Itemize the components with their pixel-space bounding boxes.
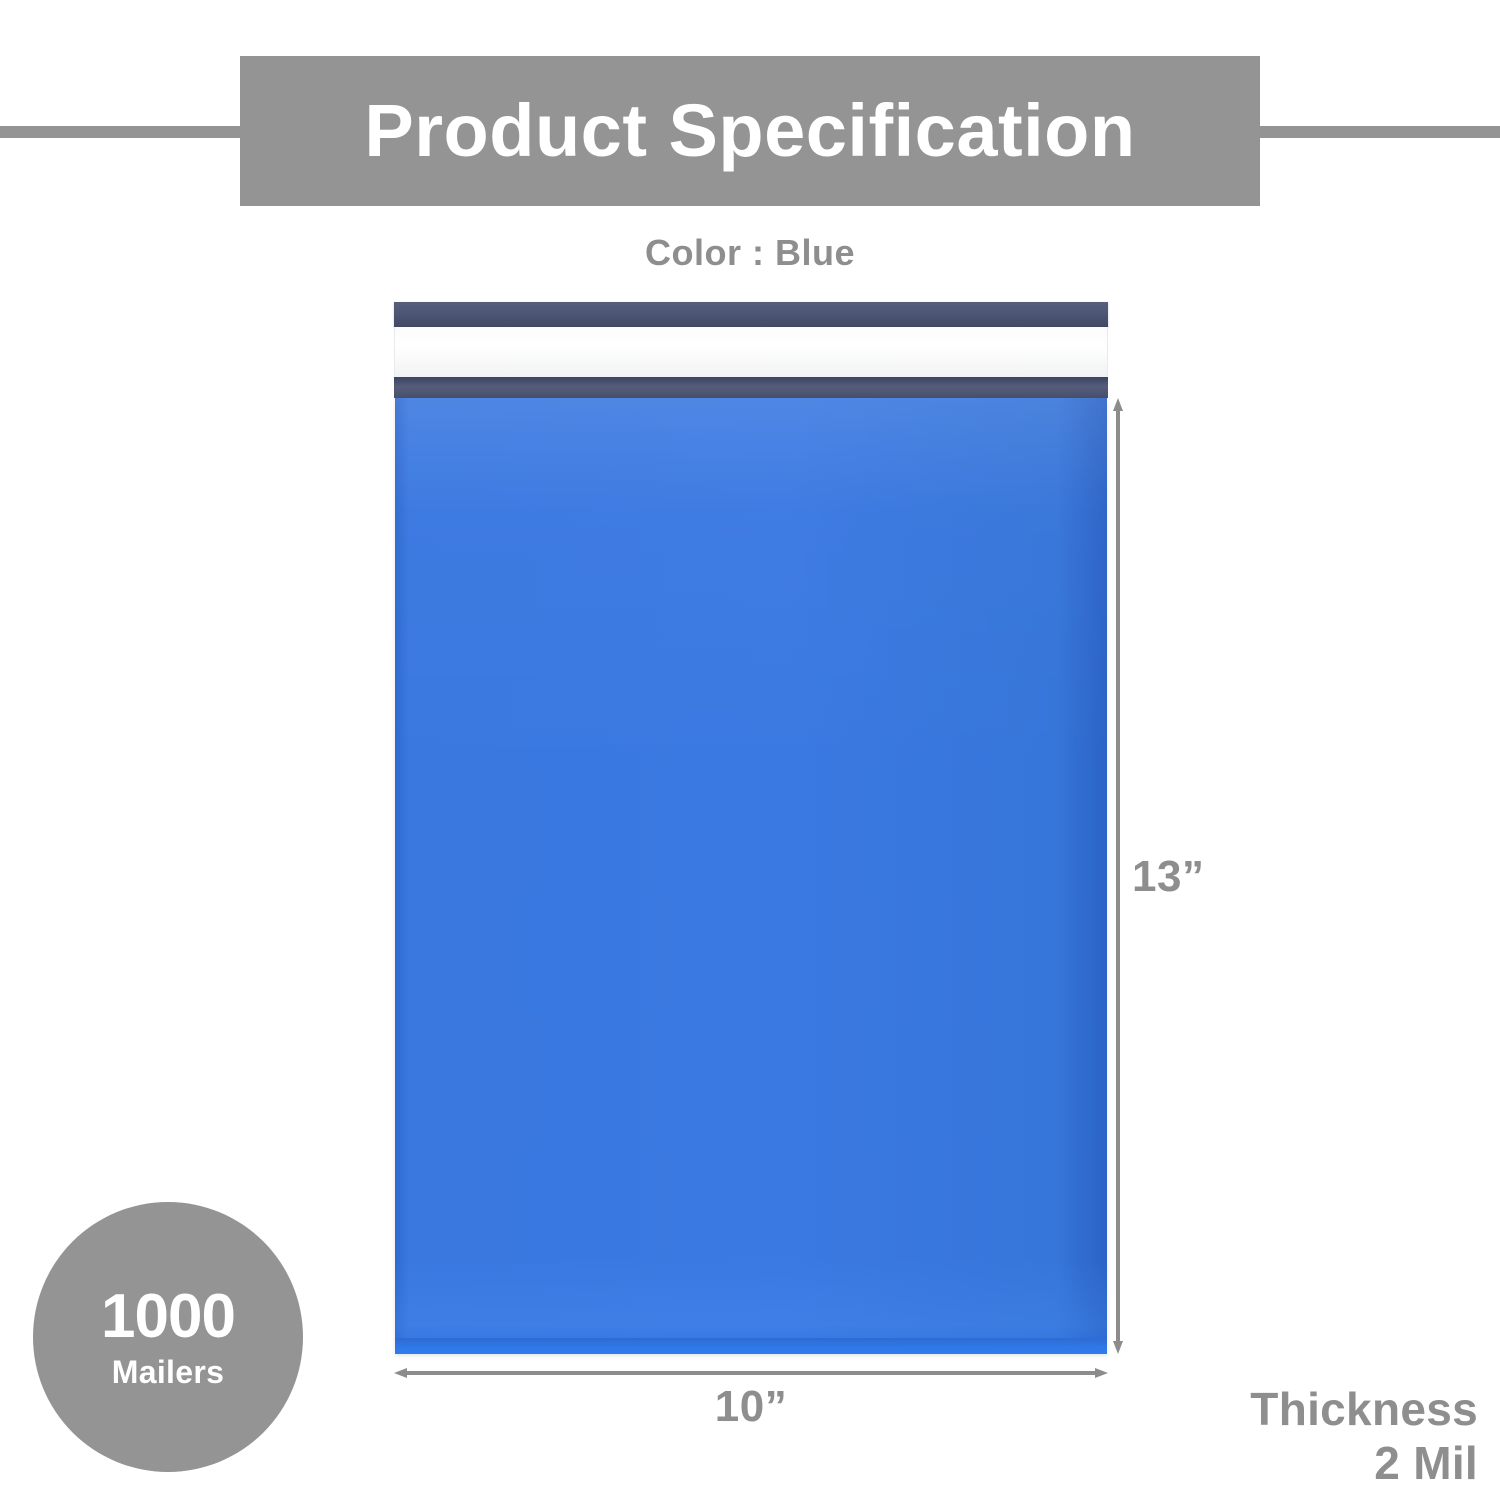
header-banner: Product Specification xyxy=(240,56,1260,206)
page-title: Product Specification xyxy=(364,94,1135,168)
bag-body xyxy=(395,398,1107,1354)
height-dimension-arrow xyxy=(1113,398,1123,1354)
bag-adhesive-liner-strip xyxy=(394,327,1108,377)
width-dimension-label: 10” xyxy=(394,1382,1108,1432)
width-dimension-arrow xyxy=(394,1368,1108,1378)
product-specification-page: Product Specification Color : Blue 13” 1… xyxy=(0,0,1500,1500)
quantity-count: 1000 xyxy=(101,1286,235,1348)
bag-bottom-seal-band xyxy=(395,1338,1107,1354)
bag-flap-seam-strip xyxy=(394,377,1108,398)
dimension-shaft xyxy=(1116,408,1120,1344)
arrow-right-icon xyxy=(1095,1368,1108,1378)
mailer-bag-illustration xyxy=(394,302,1108,1354)
thickness-title: Thickness xyxy=(1250,1382,1478,1436)
quantity-unit-label: Mailers xyxy=(112,1356,224,1388)
color-caption: Color : Blue xyxy=(0,232,1500,274)
bag-body-gloss-overlay xyxy=(395,398,1107,1354)
height-dimension-label: 13” xyxy=(1132,852,1204,902)
dimension-shaft xyxy=(404,1371,1098,1375)
bag-flap-top-strip xyxy=(394,302,1108,327)
quantity-badge: 1000 Mailers xyxy=(33,1202,303,1472)
arrow-down-icon xyxy=(1113,1341,1123,1354)
thickness-value: 2 Mil xyxy=(1250,1436,1478,1490)
thickness-block: Thickness 2 Mil xyxy=(1250,1382,1478,1491)
